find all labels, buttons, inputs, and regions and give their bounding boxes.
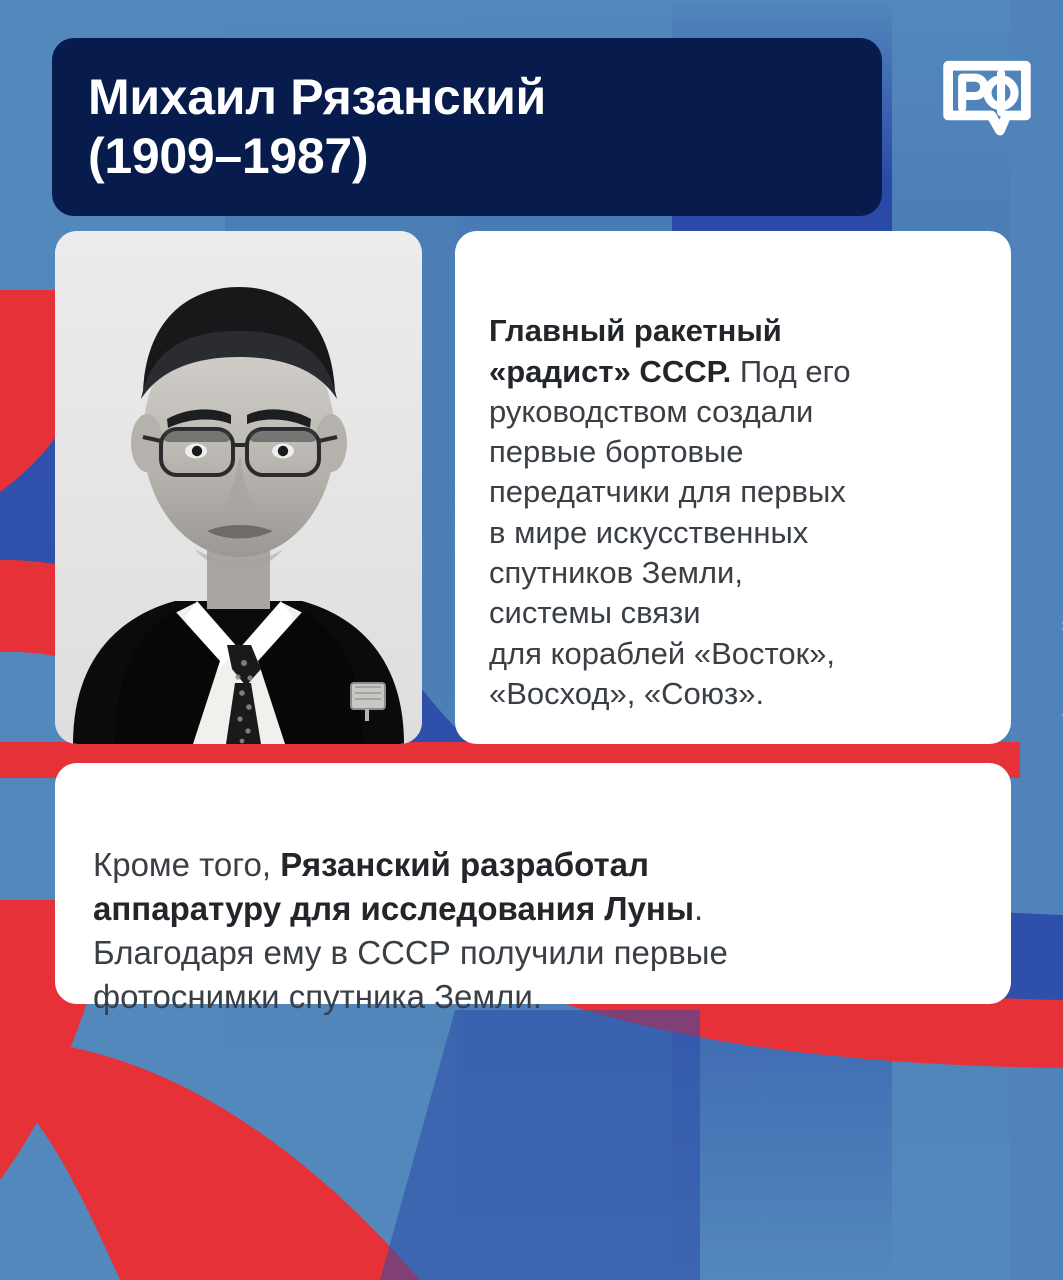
fact-card-primary-rest: Под его руководством создали первые борт… <box>489 354 851 711</box>
page-title: Михаил Рязанский (1909–1987) <box>88 68 846 186</box>
infographic-poster: Михаил Рязанский (1909–1987) <box>0 0 1063 1280</box>
fact-card-secondary-text: Кроме того, Рязанский разработал аппарат… <box>93 799 973 1018</box>
fact-card-secondary: Кроме того, Рязанский разработал аппарат… <box>55 763 1011 1004</box>
bg-stripe-5 <box>1010 0 1063 1280</box>
fact-card-secondary-part1: Кроме того, <box>93 846 280 883</box>
fact-card-primary-text: Главный ракетный «радист» СССР. Под его … <box>489 271 977 714</box>
rf-logo[interactable] <box>933 42 1041 150</box>
speech-bubble-icon <box>933 42 1041 150</box>
title-card: Михаил Рязанский (1909–1987) <box>52 38 882 216</box>
portrait-photo <box>55 231 422 744</box>
fact-card-primary: Главный ракетный «радист» СССР. Под его … <box>455 231 1011 744</box>
